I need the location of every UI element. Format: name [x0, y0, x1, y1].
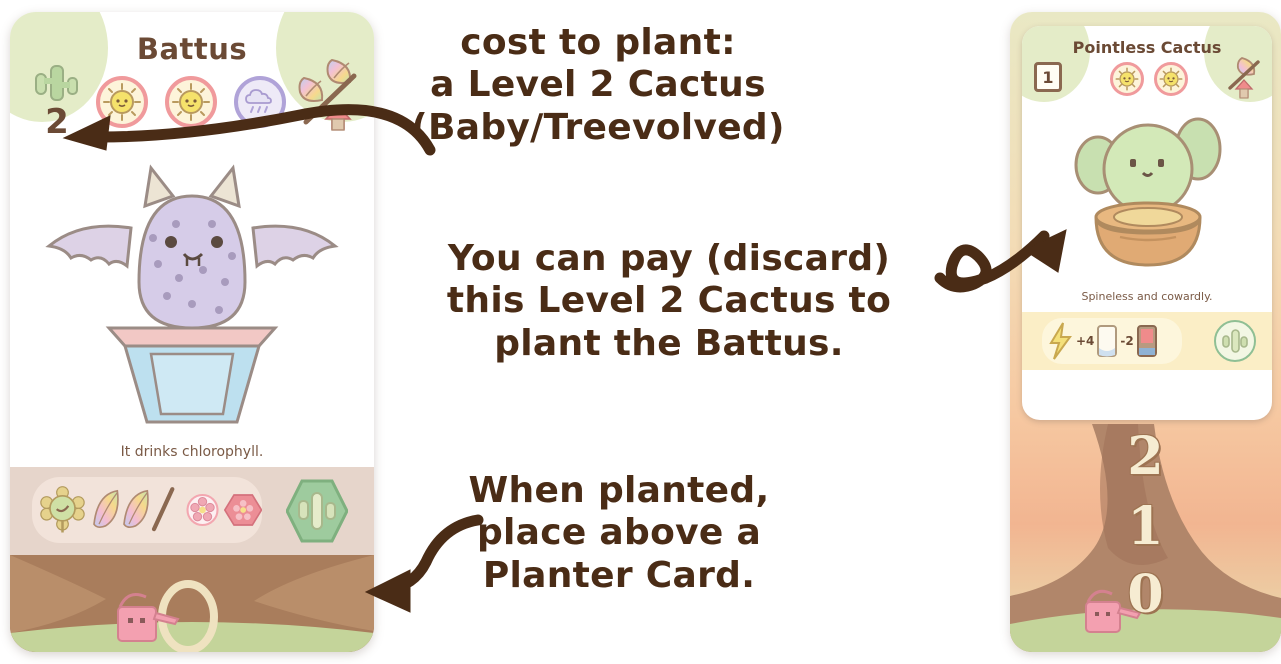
pointless-cactus-artwork	[1022, 100, 1272, 290]
sunflower-icon	[40, 481, 85, 539]
sun-need-1	[1110, 62, 1144, 96]
battus-card[interactable]: Battus 2	[10, 12, 374, 652]
sun-need-2	[165, 76, 217, 128]
rain-cloud-icon	[241, 83, 279, 121]
battus-needs-row	[96, 76, 286, 128]
cactus-icon	[28, 62, 86, 102]
rain-need-1	[234, 76, 286, 128]
bat-cactus-in-pot-icon	[27, 132, 357, 432]
battus-artwork	[10, 122, 374, 442]
slot-number-2[interactable]: 2	[1010, 426, 1281, 487]
lightning-icon	[1048, 321, 1074, 361]
pointless-cactus-type-badge	[1214, 320, 1256, 362]
sun-icon	[103, 83, 141, 121]
battus-type-badge	[286, 479, 348, 543]
red-hex-flower-icon	[224, 488, 262, 532]
sun-icon	[1115, 67, 1139, 91]
pointless-cactus-ability-icons: +4 -2	[1042, 318, 1182, 364]
pointless-cactus-card[interactable]: Pointless Cactus 1	[1022, 26, 1272, 420]
pointless-cactus-needs-row	[1110, 62, 1188, 96]
sun-icon	[1159, 67, 1183, 91]
ability-value-1: +4	[1076, 334, 1094, 348]
ability-value-2: -2	[1120, 334, 1133, 348]
annotation-cost-note: cost to plant: a Level 2 Cactus (Baby/Tr…	[392, 22, 804, 149]
planter-tree-slots[interactable]: 2 1 0	[1010, 424, 1281, 652]
slash-icon	[154, 489, 172, 529]
slot-number-1[interactable]: 1	[1010, 496, 1281, 557]
game-board-panel[interactable]: Pointless Cactus 1	[1010, 12, 1281, 652]
pink-flower-circle-icon	[185, 489, 220, 531]
annotation-pay-note: You can pay (discard) this Level 2 Cactu…	[444, 238, 894, 365]
sun-need-2	[1154, 62, 1188, 96]
pointless-cactus-ability-bar: +4 -2	[1022, 312, 1272, 370]
pointless-cactus-cost: 1	[1034, 62, 1062, 92]
rainbow-leaf-icon	[300, 78, 323, 101]
battus-flavor-text: It drinks chlorophyll.	[10, 444, 374, 460]
battus-ability-icons	[32, 477, 262, 543]
battus-ground-scene	[10, 555, 374, 652]
pointless-cactus-corner-icons	[1222, 54, 1266, 106]
sun-need-1	[96, 76, 148, 128]
discard-icon	[1136, 324, 1158, 358]
round-green-cactus-in-pot-icon	[1062, 107, 1232, 283]
slot-number-0[interactable]: 0	[1010, 564, 1281, 625]
cactus-circle-icon	[1220, 327, 1250, 355]
card-draw-icon	[1096, 324, 1118, 358]
pink-arrow-up-icon	[1236, 80, 1252, 98]
sun-icon	[172, 83, 210, 121]
rainbow-leaf-icon	[124, 491, 148, 527]
pointless-cactus-flavor-text: Spineless and cowardly.	[1022, 290, 1272, 303]
rainbow-leaf-icon	[94, 491, 118, 527]
annotation-plant-note: When planted, place above a Planter Card…	[444, 470, 794, 597]
cactus-hex-badge-icon	[286, 479, 348, 543]
battus-ability-bar	[10, 467, 374, 555]
